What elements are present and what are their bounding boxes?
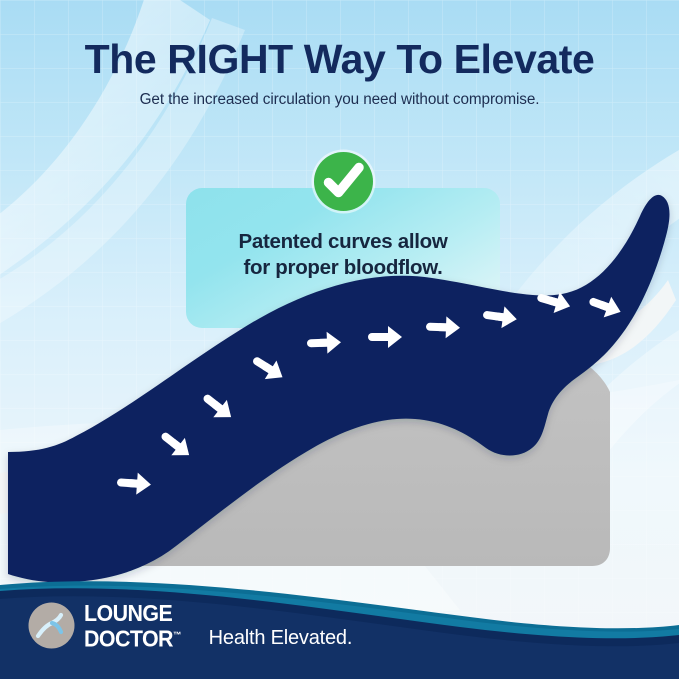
promotional-poster: The RIGHT Way To Elevate Get the increas… bbox=[0, 0, 679, 679]
brand-tagline: Health Elevated. bbox=[209, 627, 353, 650]
callout-line-1: Patented curves allow bbox=[238, 230, 447, 253]
callout-text: Patented curves allow for proper bloodfl… bbox=[186, 229, 500, 281]
header-block: The RIGHT Way To Elevate Get the increas… bbox=[0, 34, 679, 110]
footer-bar: LOUNGE DOCTOR™ Health Elevated. bbox=[0, 569, 679, 679]
lounge-doctor-circle-icon bbox=[28, 602, 75, 649]
green-check-circle-icon bbox=[309, 147, 378, 216]
trademark-symbol: ™ bbox=[173, 630, 181, 640]
page-title: The RIGHT Way To Elevate bbox=[0, 34, 679, 84]
brand-wordmark: LOUNGE DOCTOR™ bbox=[84, 602, 181, 650]
brand-word-line-1: LOUNGE bbox=[84, 602, 181, 624]
callout-line-2: for proper bloodflow. bbox=[186, 255, 500, 281]
page-subtitle: Get the increased circulation you need w… bbox=[0, 90, 679, 110]
brand-logo[interactable]: LOUNGE DOCTOR™ Health Elevated. bbox=[28, 602, 352, 650]
brand-word-line-2: DOCTOR™ bbox=[84, 624, 181, 650]
